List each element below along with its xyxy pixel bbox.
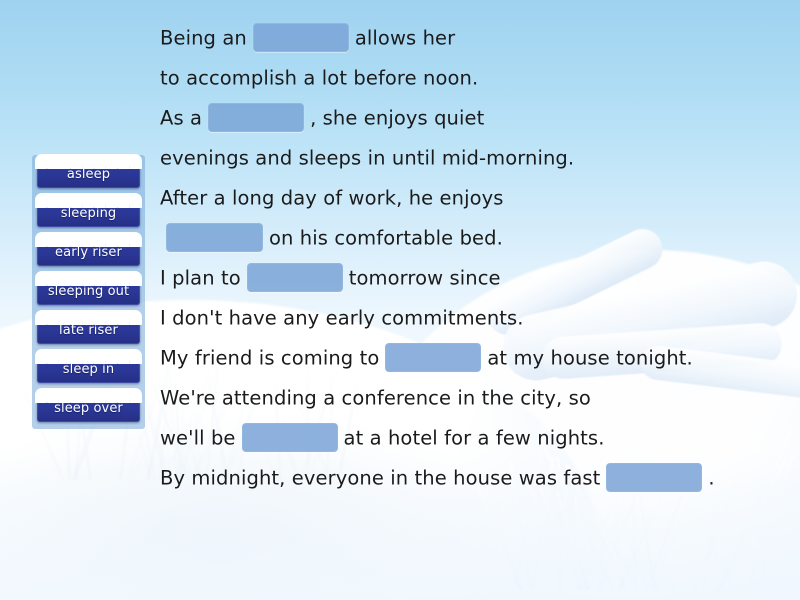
sentence-text: on his comfortable bed. [269,227,503,250]
sentence-text: , she enjoys quiet [310,107,484,130]
sentence-text: tomorrow since [349,267,501,290]
sentence-text: As a [160,107,202,130]
word-tile-label: sleeping [61,206,117,221]
answer-blank-dropzone[interactable] [253,23,349,52]
snow-cap-decoration [35,388,142,399]
answer-blank-dropzone[interactable] [247,263,343,292]
word-tile[interactable]: early riser [37,239,140,266]
word-tile-label: sleep over [54,401,123,416]
word-tile-label: sleep in [63,362,114,377]
answer-blank-dropzone[interactable] [242,423,338,452]
snow-cap-decoration [35,154,142,165]
sentence-text: I don't have any early commitments. [160,307,524,330]
sentence-column: Being anallows herto accomplish a lot be… [160,18,788,498]
sentence-line: I plan totomorrow since [160,258,788,298]
sentence-line: I don't have any early commitments. [160,298,788,338]
word-tile[interactable]: late riser [37,317,140,344]
sentence-text: allows her [355,27,455,50]
word-tile-label: asleep [67,167,110,182]
sentence-line: evenings and sleeps in until mid-morning… [160,138,788,178]
word-tile-label: sleeping out [48,284,129,299]
snow-cap-decoration [35,310,142,321]
sentence-line: Being anallows her [160,18,788,58]
snow-cap-decoration [35,349,142,360]
sentence-text: I plan to [160,267,241,290]
sentence-line: We're attending a conference in the city… [160,378,788,418]
sentence-line: on his comfortable bed. [160,218,788,258]
sentence-text: After a long day of work, he enjoys [160,187,504,210]
answer-blank-dropzone[interactable] [606,463,702,492]
sentence-text: to accomplish a lot before noon. [160,67,478,90]
sentence-line: we'll beat a hotel for a few nights. [160,418,788,458]
activity-stage: asleepsleepingearly risersleeping outlat… [0,0,800,600]
sentence-line: to accomplish a lot before noon. [160,58,788,98]
snow-cap-decoration [35,271,142,282]
word-tile-label: early riser [55,245,122,260]
word-tile-label: late riser [59,323,118,338]
word-tile[interactable]: sleeping [37,200,140,227]
word-tile[interactable]: sleeping out [37,278,140,305]
word-tile[interactable]: sleep in [37,356,140,383]
sentence-text: . [708,467,714,490]
answer-blank-dropzone[interactable] [166,223,263,252]
sentence-text: evenings and sleeps in until mid-morning… [160,147,574,170]
word-tile[interactable]: asleep [37,161,140,188]
snow-cap-decoration [35,232,142,243]
sentence-line: After a long day of work, he enjoys [160,178,788,218]
sentence-line: By midnight, everyone in the house was f… [160,458,788,498]
sentence-text: Being an [160,27,247,50]
sentence-text: we'll be [160,427,236,450]
sentence-text: My friend is coming to [160,347,379,370]
sentence-text: at a hotel for a few nights. [344,427,605,450]
sentence-line: As a, she enjoys quiet [160,98,788,138]
word-tile[interactable]: sleep over [37,395,140,422]
word-bank-panel: asleepsleepingearly risersleeping outlat… [32,155,145,429]
answer-blank-dropzone[interactable] [385,343,481,372]
sentence-line: My friend is coming toat my house tonigh… [160,338,788,378]
sentence-text: By midnight, everyone in the house was f… [160,467,600,490]
snow-cap-decoration [35,193,142,204]
sentence-text: We're attending a conference in the city… [160,387,591,410]
sentence-text: at my house tonight. [487,347,692,370]
answer-blank-dropzone[interactable] [208,103,304,132]
